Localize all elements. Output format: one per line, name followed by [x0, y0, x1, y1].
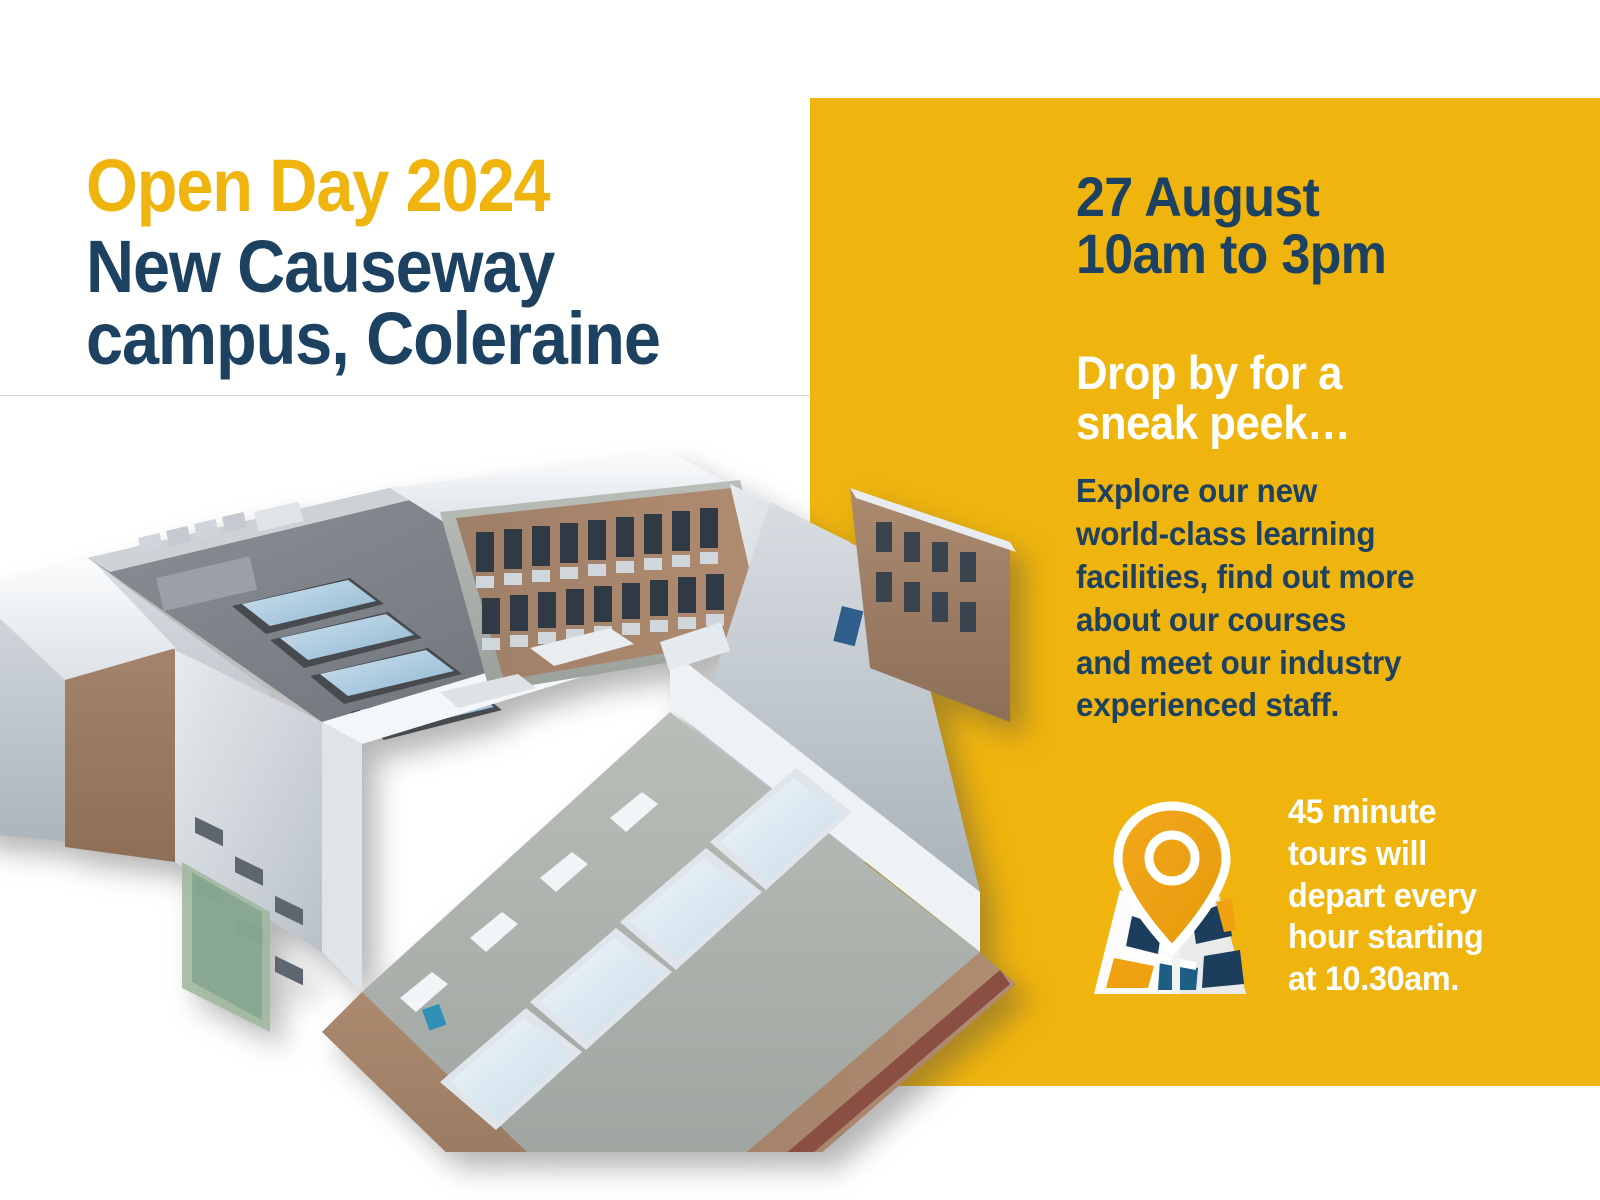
map-location-pin-icon [1076, 798, 1261, 998]
body-line-3: facilities, find out more [1076, 556, 1504, 599]
tours-line-5: at 10.30am. [1288, 959, 1535, 1001]
headline-divider-rule [0, 395, 810, 396]
tours-text-block: 45 minute tours will depart every hour s… [1288, 792, 1548, 1001]
tagline-line-2: sneak peek… [1076, 398, 1476, 448]
tours-line-2: tours will [1288, 834, 1535, 876]
map-pin-svg [1076, 798, 1261, 998]
event-date-block: 27 August 10am to 3pm [1076, 168, 1576, 282]
body-line-2: world-class learning [1076, 513, 1504, 556]
body-line-1: Explore our new [1076, 470, 1504, 513]
building-illustration [0, 392, 1060, 1152]
headline-line-new-causeway: New Causeway [86, 231, 716, 304]
body-copy-block: Explore our new world-class learning fac… [1076, 470, 1526, 727]
date-line-day: 27 August [1076, 168, 1541, 225]
tours-line-3: depart every [1288, 876, 1535, 918]
tours-line-1: 45 minute [1288, 792, 1535, 834]
headline-line-open-day: Open Day 2024 [86, 150, 716, 223]
headline-block: Open Day 2024 New Causeway campus, Coler… [86, 150, 786, 376]
campus-building-photo [0, 392, 1060, 1152]
body-line-4: about our courses [1076, 599, 1504, 642]
tagline-line-1: Drop by for a [1076, 348, 1476, 398]
date-line-time: 10am to 3pm [1076, 225, 1541, 282]
headline-line-campus-coleraine: campus, Coleraine [86, 303, 716, 376]
tours-line-4: hour starting [1288, 917, 1535, 959]
tagline-block: Drop by for a sneak peek… [1076, 348, 1506, 448]
poster-canvas: Open Day 2024 New Causeway campus, Coler… [0, 0, 1600, 1200]
body-line-5: and meet our industry [1076, 642, 1504, 685]
body-line-6: experienced staff. [1076, 684, 1504, 727]
